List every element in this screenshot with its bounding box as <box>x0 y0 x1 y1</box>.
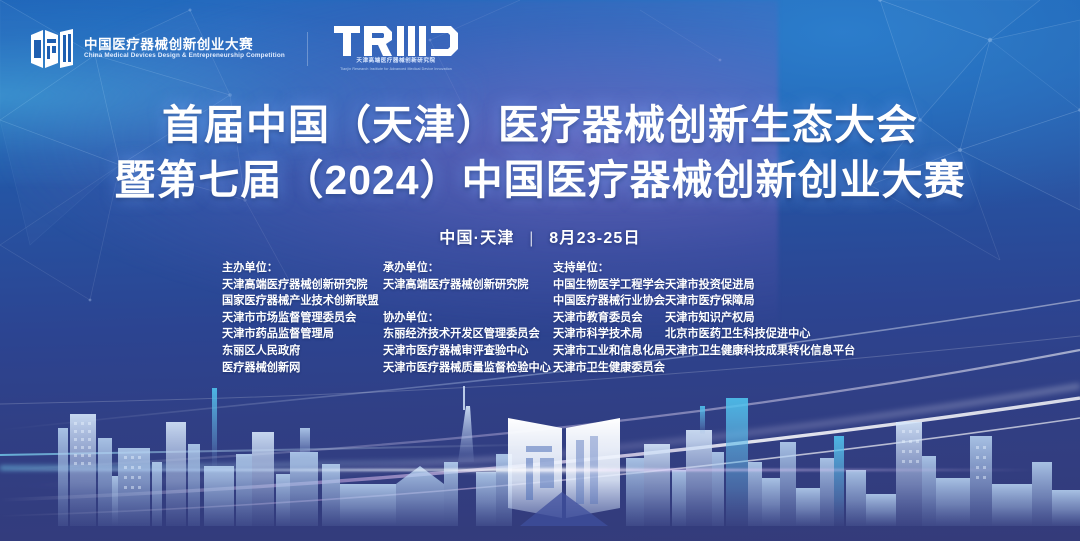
main-title-line-2: 暨第七届（2024）中国医疗器械创新创业大赛 <box>0 153 1080 208</box>
host-item: 医疗器械创新网 <box>222 360 383 377</box>
organizer-column-organizer: 承办单位： 天津高端医疗器械创新研究院 协办单位： 东丽经济技术开发区管理委员会… <box>383 260 553 376</box>
support-item: 天津市医疗保障局 <box>665 293 855 310</box>
event-meta: 中国·天津 | 8月23-25日 <box>0 224 1080 248</box>
competition-name-cn: 中国医疗器械创新创业大赛 <box>84 38 281 52</box>
support-item: 中国医疗器械行业协会 <box>553 293 665 310</box>
organizer-column-support-b: 天津市投资促进局 天津市医疗保障局 天津市知识产权局 北京市医药卫生科技促进中心… <box>665 260 855 360</box>
open-book-door-logo-icon <box>30 29 74 69</box>
event-date: 8月23-25日 <box>549 230 640 247</box>
co-organizer-item: 天津市医疗器械审评查验中心 <box>383 343 553 360</box>
support-item: 天津市知识产权局 <box>665 310 855 327</box>
logo-divider <box>307 32 308 66</box>
support-item: 天津市科学技术局 <box>553 326 665 343</box>
co-organizer-item: 东丽经济技术开发区管理委员会 <box>383 326 553 343</box>
meta-separator: | <box>529 230 534 248</box>
support-heading: 支持单位： <box>553 260 665 277</box>
host-item: 国家医疗器械产业技术创新联盟 <box>222 293 383 310</box>
support-item: 天津市投资促进局 <box>665 277 855 294</box>
competition-logo: 中国医疗器械创新创业大赛 China Medical Devices Desig… <box>30 29 281 69</box>
organizer-column-host: 主办单位： 天津高端医疗器械创新研究院 国家医疗器械产业技术创新联盟 天津市市场… <box>222 260 383 376</box>
event-location: 中国·天津 <box>439 230 514 247</box>
support-item: 北京市医药卫生科技促进中心 <box>665 326 855 343</box>
host-item: 天津市药品监督管理局 <box>222 326 383 343</box>
title-block: 首届中国（天津）医疗器械创新生态大会 暨第七届（2024）中国医疗器械创新创业大… <box>0 98 1080 248</box>
institute-name-en: Tianjin Research Institute for Advanced … <box>340 68 452 72</box>
horizon-glow-core <box>432 467 670 473</box>
co-organizer-item: 天津市医疗器械质量监督检验中心 <box>383 360 553 377</box>
institute-name-cn: 天津高端医疗器械创新研究院 <box>356 59 435 65</box>
main-title-line-1: 首届中国（天津）医疗器械创新生态大会 <box>0 98 1080 153</box>
competition-name-en: China Medical Devices Design & Entrepren… <box>84 53 285 59</box>
host-heading: 主办单位： <box>222 260 383 277</box>
organizer-heading: 承办单位： <box>383 260 553 277</box>
city-skyline-illustration <box>0 366 1080 541</box>
host-item: 东丽区人民政府 <box>222 343 383 360</box>
conference-banner: 中国医疗器械创新创业大赛 China Medical Devices Desig… <box>0 0 1080 541</box>
organizer-item: 天津高端医疗器械创新研究院 <box>383 277 553 294</box>
co-organizer-heading: 协办单位： <box>383 310 553 327</box>
column-spacer <box>383 293 553 310</box>
host-item: 天津市市场监督管理委员会 <box>222 310 383 327</box>
organizer-column-support-a: 支持单位： 中国生物医学工程学会 中国医疗器械行业协会 天津市教育委员会 天津市… <box>553 260 665 376</box>
support-item: 天津市工业和信息化局 <box>553 343 665 360</box>
triid-wordmark-icon <box>334 26 458 56</box>
host-item: 天津高端医疗器械创新研究院 <box>222 277 383 294</box>
institute-logo: 天津高端医疗器械创新研究院 Tianjin Research Institute… <box>334 26 458 71</box>
support-item: 天津市教育委员会 <box>553 310 665 327</box>
support-item: 天津市卫生健康委员会 <box>553 360 665 377</box>
support-item: 中国生物医学工程学会 <box>553 277 665 294</box>
organizer-block: 主办单位： 天津高端医疗器械创新研究院 国家医疗器械产业技术创新联盟 天津市市场… <box>222 260 1080 376</box>
support-item: 天津市卫生健康科技成果转化信息平台 <box>665 343 855 360</box>
logo-bar: 中国医疗器械创新创业大赛 China Medical Devices Desig… <box>30 26 458 71</box>
competition-logo-text: 中国医疗器械创新创业大赛 China Medical Devices Desig… <box>84 38 281 60</box>
